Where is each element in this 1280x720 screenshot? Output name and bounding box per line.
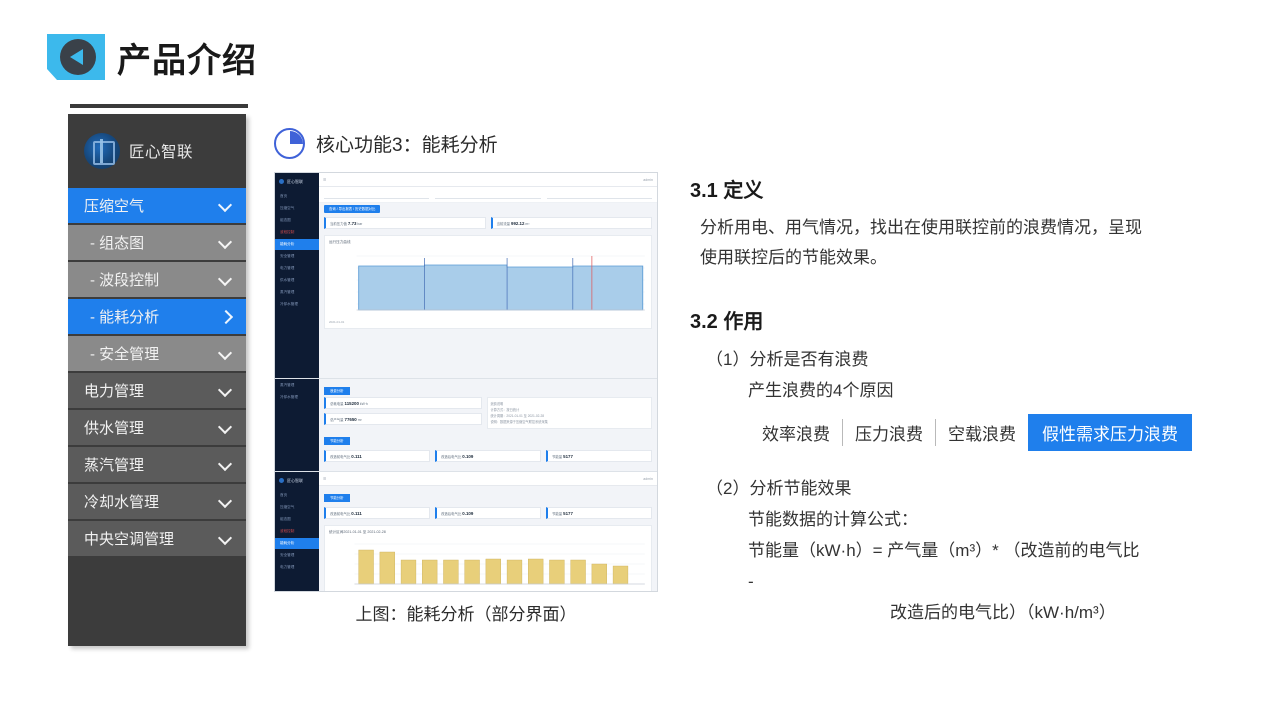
- kpi-card: 总耗电量 115200 kW·h: [324, 397, 482, 409]
- sidebar-item-hvac-management[interactable]: 中央空调管理: [68, 521, 246, 556]
- app-user-label[interactable]: admin: [643, 477, 653, 481]
- play-left-icon: [47, 34, 105, 80]
- formula-line-3: 改造后的电气比）（kW·h/m³）: [890, 597, 1250, 628]
- chart-title: 运行压力曲线: [329, 240, 647, 245]
- app-sidebar-brand: 匠心智联: [275, 472, 319, 489]
- kpi-label: 改造后电气比: [441, 455, 461, 459]
- chevron-down-icon: [219, 532, 232, 545]
- app-sidebar-cont2: 匠心智联 首页 压缩空气 组态图 波段控制 能耗分析 安全管理 电力管理: [275, 472, 319, 592]
- waste-chip-efficiency[interactable]: 效率浪费: [750, 414, 842, 451]
- definition-line-1: 分析用电、用气情况，找出在使用联控前的浪费情况，呈现: [700, 213, 1250, 243]
- kpi-label: 当前流量: [497, 222, 511, 226]
- right-content-column: 3.1 定义 分析用电、用气情况，找出在使用联控前的浪费情况，呈现 使用联控后的…: [690, 174, 1250, 628]
- chevron-down-icon: [219, 347, 232, 360]
- kpi-label: 改造后电气比: [441, 512, 461, 516]
- page-title: 产品介绍: [117, 33, 257, 82]
- query-button[interactable]: 查询 / 导出报表 / 历史数据对比: [324, 205, 380, 213]
- app-sidebar-item[interactable]: 冷却水管理: [275, 299, 319, 310]
- kpi-value: 5177: [563, 454, 573, 459]
- kpi-card: 改造前电气比 0.111: [324, 450, 430, 462]
- pressure-chart-panel: 运行压力曲线: [324, 235, 652, 329]
- device-select[interactable]: [435, 191, 540, 199]
- kpi-card-row-kpi2: 改造前电气比 0.111 改造后电气比 0.109 节能量 5177: [319, 504, 657, 522]
- app-sidebar-item[interactable]: 蒸汽管理: [275, 287, 319, 298]
- app-main-middle: 浪费分析 总耗电量 115200 kW·h 总产气量 77650 m³ 浪费说明: [319, 379, 657, 471]
- pie-chart-icon: [274, 128, 305, 159]
- sidebar-item-safety-management[interactable]: - 安全管理: [68, 336, 246, 371]
- energy-saving-tag: 节能分析: [324, 494, 350, 502]
- app-sidebar-item[interactable]: 波段控制: [275, 526, 319, 537]
- bar-chart-svg-1: [329, 538, 647, 592]
- kpi-value: 77650: [345, 417, 357, 422]
- app-sidebar-item[interactable]: 供水管理: [275, 275, 319, 286]
- app-filter-bar: [319, 187, 657, 203]
- kpi-value: 0.109: [462, 454, 473, 459]
- app-sidebar-item[interactable]: 电力管理: [275, 562, 319, 573]
- chevron-down-icon: [219, 495, 232, 508]
- app-logo-icon: [279, 179, 284, 184]
- app-topbar: ☰ admin: [319, 173, 657, 187]
- badge-triangle: [70, 49, 83, 65]
- screenshot-caption: 上图：能耗分析（部分界面）: [274, 600, 658, 625]
- chevron-down-icon: [219, 199, 232, 212]
- waste-chip-idle[interactable]: 空载浪费: [936, 414, 1028, 451]
- kpi-label: 当前压力值: [330, 222, 347, 226]
- app-brand-label: 匠心智联: [287, 179, 303, 185]
- sidebar-item-label: 供水管理: [84, 417, 144, 438]
- sidebar-item-label: - 组态图: [84, 232, 144, 253]
- sidebar-item-label: 电力管理: [84, 380, 144, 401]
- waste-chip-false-demand[interactable]: 假性需求压力浪费: [1028, 414, 1192, 451]
- nav-brand: 匠心智联: [68, 114, 246, 188]
- app-sidebar-item[interactable]: 蒸汽管理: [275, 380, 319, 391]
- app-sidebar-item[interactable]: 首页: [275, 490, 319, 501]
- kpi-card: 当前压力值 7.73 bar: [324, 217, 486, 229]
- waste-reason-row: 效率浪费 压力浪费 空载浪费 假性需求压力浪费: [750, 414, 1250, 451]
- badge-ring: [60, 39, 96, 75]
- kpi-value: 0.111: [351, 454, 362, 459]
- kpi-label: 总耗电量: [330, 402, 344, 406]
- kpi-label: 改造前电气比: [330, 512, 350, 516]
- app-brand-label: 匠心智联: [287, 478, 303, 484]
- energy-analysis-screenshot: 匠心智联 首页 压缩空气 组态图 波段控制 能耗分析 安全管理 电力管理 供水管…: [274, 172, 658, 592]
- app-topbar: ☰ admin: [319, 472, 657, 486]
- kpi-card: 节能量 5177: [546, 450, 652, 462]
- kpi-value: 7.73: [348, 221, 357, 226]
- sidebar-item-band-control[interactable]: - 波段控制: [68, 262, 246, 297]
- chevron-down-icon: [219, 384, 232, 397]
- bar-chart-panel-1: 统计区间2021-01-01 至 2021-02-28: [324, 525, 652, 592]
- screenshot-block-middle: 蒸汽管理 冷却水管理 浪费分析 总耗电量 115200 kW·h 总产气量 77…: [275, 378, 657, 471]
- formula-line-1: 节能量（kW·h）= 产气量（m³）* （改造前的电气比: [748, 535, 1250, 566]
- sidebar-item-label: 压缩空气: [84, 195, 144, 216]
- sidebar-item-power-management[interactable]: 电力管理: [68, 373, 246, 408]
- app-sidebar-item[interactable]: 安全管理: [275, 251, 319, 262]
- formula-line-2: -: [748, 566, 1250, 597]
- purpose-item-1: （1）分析是否有浪费: [706, 344, 1250, 375]
- sidebar-item-label: 中央空调管理: [84, 528, 174, 549]
- kpi-card: 总产气量 77650 m³: [324, 413, 482, 425]
- chevron-down-icon: [219, 421, 232, 434]
- sidebar-item-label: - 安全管理: [84, 343, 159, 364]
- app-sidebar-item[interactable]: 压缩空气: [275, 203, 319, 214]
- pressure-area-chart: [329, 248, 647, 320]
- chart-x-axis: 2021-01-01: [329, 320, 647, 324]
- kpi-card: 节能量 5177: [546, 507, 652, 519]
- kpi-value: 0.109: [462, 511, 473, 516]
- kpi-card-row-kpi: 改造前电气比 0.111 改造后电气比 0.109 节能量 5177: [319, 447, 657, 465]
- definition-heading: 3.1 定义: [690, 174, 1250, 203]
- sidebar-item-label: - 波段控制: [84, 269, 159, 290]
- chevron-down-icon: [219, 236, 232, 249]
- hamburger-icon[interactable]: ☰: [323, 477, 326, 481]
- sidebar-item-compressed-air[interactable]: 压缩空气: [68, 188, 246, 223]
- sidebar-item-label: 冷却水管理: [84, 491, 159, 512]
- kpi-value: 115200: [345, 401, 359, 406]
- kpi-card: 改造后电气比 0.109: [435, 450, 541, 462]
- note-line: 说明：数据来源于压缩空气联控系统采集: [491, 419, 649, 425]
- app-main: ☰ admin 查询 / 导出报表 / 历史数据对比 当前压力值 7.73 ba…: [319, 173, 657, 378]
- kpi-value: 0.111: [351, 511, 362, 516]
- kpi-label: 改造前电气比: [330, 455, 350, 459]
- purpose-item-2: （2）分析节能效果: [706, 473, 1250, 504]
- section-heading: 核心功能3：能耗分析: [274, 128, 498, 159]
- sidebar-item-cooling-water[interactable]: 冷却水管理: [68, 484, 246, 519]
- app-user-label[interactable]: admin: [643, 178, 653, 182]
- hamburger-icon[interactable]: ☰: [323, 178, 326, 182]
- app-sidebar-item-selected[interactable]: 能耗分析: [275, 538, 319, 549]
- header-divider: [70, 104, 248, 108]
- chevron-right-icon: [219, 310, 232, 323]
- kpi-label: 节能量: [552, 512, 562, 516]
- sidebar-item-energy-analysis[interactable]: - 能耗分析: [68, 299, 246, 334]
- app-sidebar-item[interactable]: 波段控制: [275, 227, 319, 238]
- app-sidebar-brand: 匠心智联: [275, 173, 319, 190]
- kpi-unit: kW·h: [360, 402, 368, 406]
- app-sidebar-item[interactable]: 电力管理: [275, 263, 319, 274]
- x-tick: 2021-01-01: [329, 320, 344, 324]
- kpi-card: 当前流量 992.12 m³: [491, 217, 653, 229]
- app-button-row: 查询 / 导出报表 / 历史数据对比: [319, 203, 657, 214]
- waste-analysis-tag: 浪费分析: [324, 387, 350, 395]
- app-sidebar-item[interactable]: 冷却水管理: [275, 392, 319, 403]
- screenshot-block-top: 匠心智联 首页 压缩空气 组态图 波段控制 能耗分析 安全管理 电力管理 供水管…: [275, 173, 657, 378]
- app-logo-icon: [279, 478, 284, 483]
- app-sidebar-item[interactable]: 安全管理: [275, 550, 319, 561]
- sidebar-item-label: 蒸汽管理: [84, 454, 144, 475]
- definition-line-2: 使用联控后的节能效果。: [700, 243, 1250, 273]
- app-sidebar-item[interactable]: 压缩空气: [275, 502, 319, 513]
- kpi-card: 改造前电气比 0.111: [324, 507, 430, 519]
- brand-logo-icon: [84, 133, 120, 169]
- app-sidebar-item[interactable]: 首页: [275, 191, 319, 202]
- area-chart-svg: [329, 248, 647, 320]
- app-sidebar-item[interactable]: 组态图: [275, 215, 319, 226]
- kpi-card: 改造后电气比 0.109: [435, 507, 541, 519]
- date-range-picker[interactable]: [547, 191, 652, 199]
- kpi-label: 节能量: [552, 455, 562, 459]
- purpose-heading: 3.2 作用: [690, 305, 1250, 334]
- kpi-label: 总产气量: [330, 418, 344, 422]
- kpi-unit: m³: [525, 222, 529, 226]
- app-sidebar-item[interactable]: 组态图: [275, 514, 319, 525]
- app-sidebar-cont: 蒸汽管理 冷却水管理: [275, 379, 319, 471]
- waste-chip-pressure[interactable]: 压力浪费: [843, 414, 935, 451]
- energy-saving-tag: 节能分析: [324, 437, 350, 445]
- screenshot-block-bar1: 匠心智联 首页 压缩空气 组态图 波段控制 能耗分析 安全管理 电力管理 ☰ a…: [275, 471, 657, 592]
- section-heading-label: 核心功能3：能耗分析: [316, 130, 498, 157]
- app-main-bar1: ☰ admin 节能分析 改造前电气比 0.111 改造后电气比 0.109 节…: [319, 472, 657, 592]
- nav-brand-label: 匠心智联: [129, 140, 193, 162]
- app-sidebar: 匠心智联 首页 压缩空气 组态图 波段控制 能耗分析 安全管理 电力管理 供水管…: [275, 173, 319, 378]
- app-sidebar-item-selected[interactable]: 能耗分析: [275, 239, 319, 250]
- kpi-unit: m³: [358, 418, 362, 422]
- kpi-unit: bar: [357, 222, 362, 226]
- slide-header: 产品介绍: [0, 0, 1280, 100]
- kpi-value: 992.12: [511, 221, 524, 226]
- purpose-item-2-sub: 节能数据的计算公式：: [748, 504, 1250, 535]
- kpi-value: 5177: [563, 511, 573, 516]
- sidebar-item-steam-management[interactable]: 蒸汽管理: [68, 447, 246, 482]
- sidebar-item-label: - 能耗分析: [84, 306, 159, 327]
- chevron-down-icon: [219, 273, 232, 286]
- purpose-item-1-sub: 产生浪费的4个原因: [748, 375, 1250, 406]
- kpi-card-row-top: 当前压力值 7.73 bar 当前流量 992.12 m³: [319, 214, 657, 232]
- sidebar-item-configuration-diagram[interactable]: - 组态图: [68, 225, 246, 260]
- site-select[interactable]: [324, 191, 429, 199]
- chevron-down-icon: [219, 458, 232, 471]
- product-nav-panel: 匠心智联 压缩空气 - 组态图 - 波段控制 - 能耗分析 - 安全管理 电力管…: [68, 114, 246, 646]
- sidebar-item-water-supply[interactable]: 供水管理: [68, 410, 246, 445]
- chart-title: 统计区间2021-01-01 至 2021-02-28: [329, 530, 647, 535]
